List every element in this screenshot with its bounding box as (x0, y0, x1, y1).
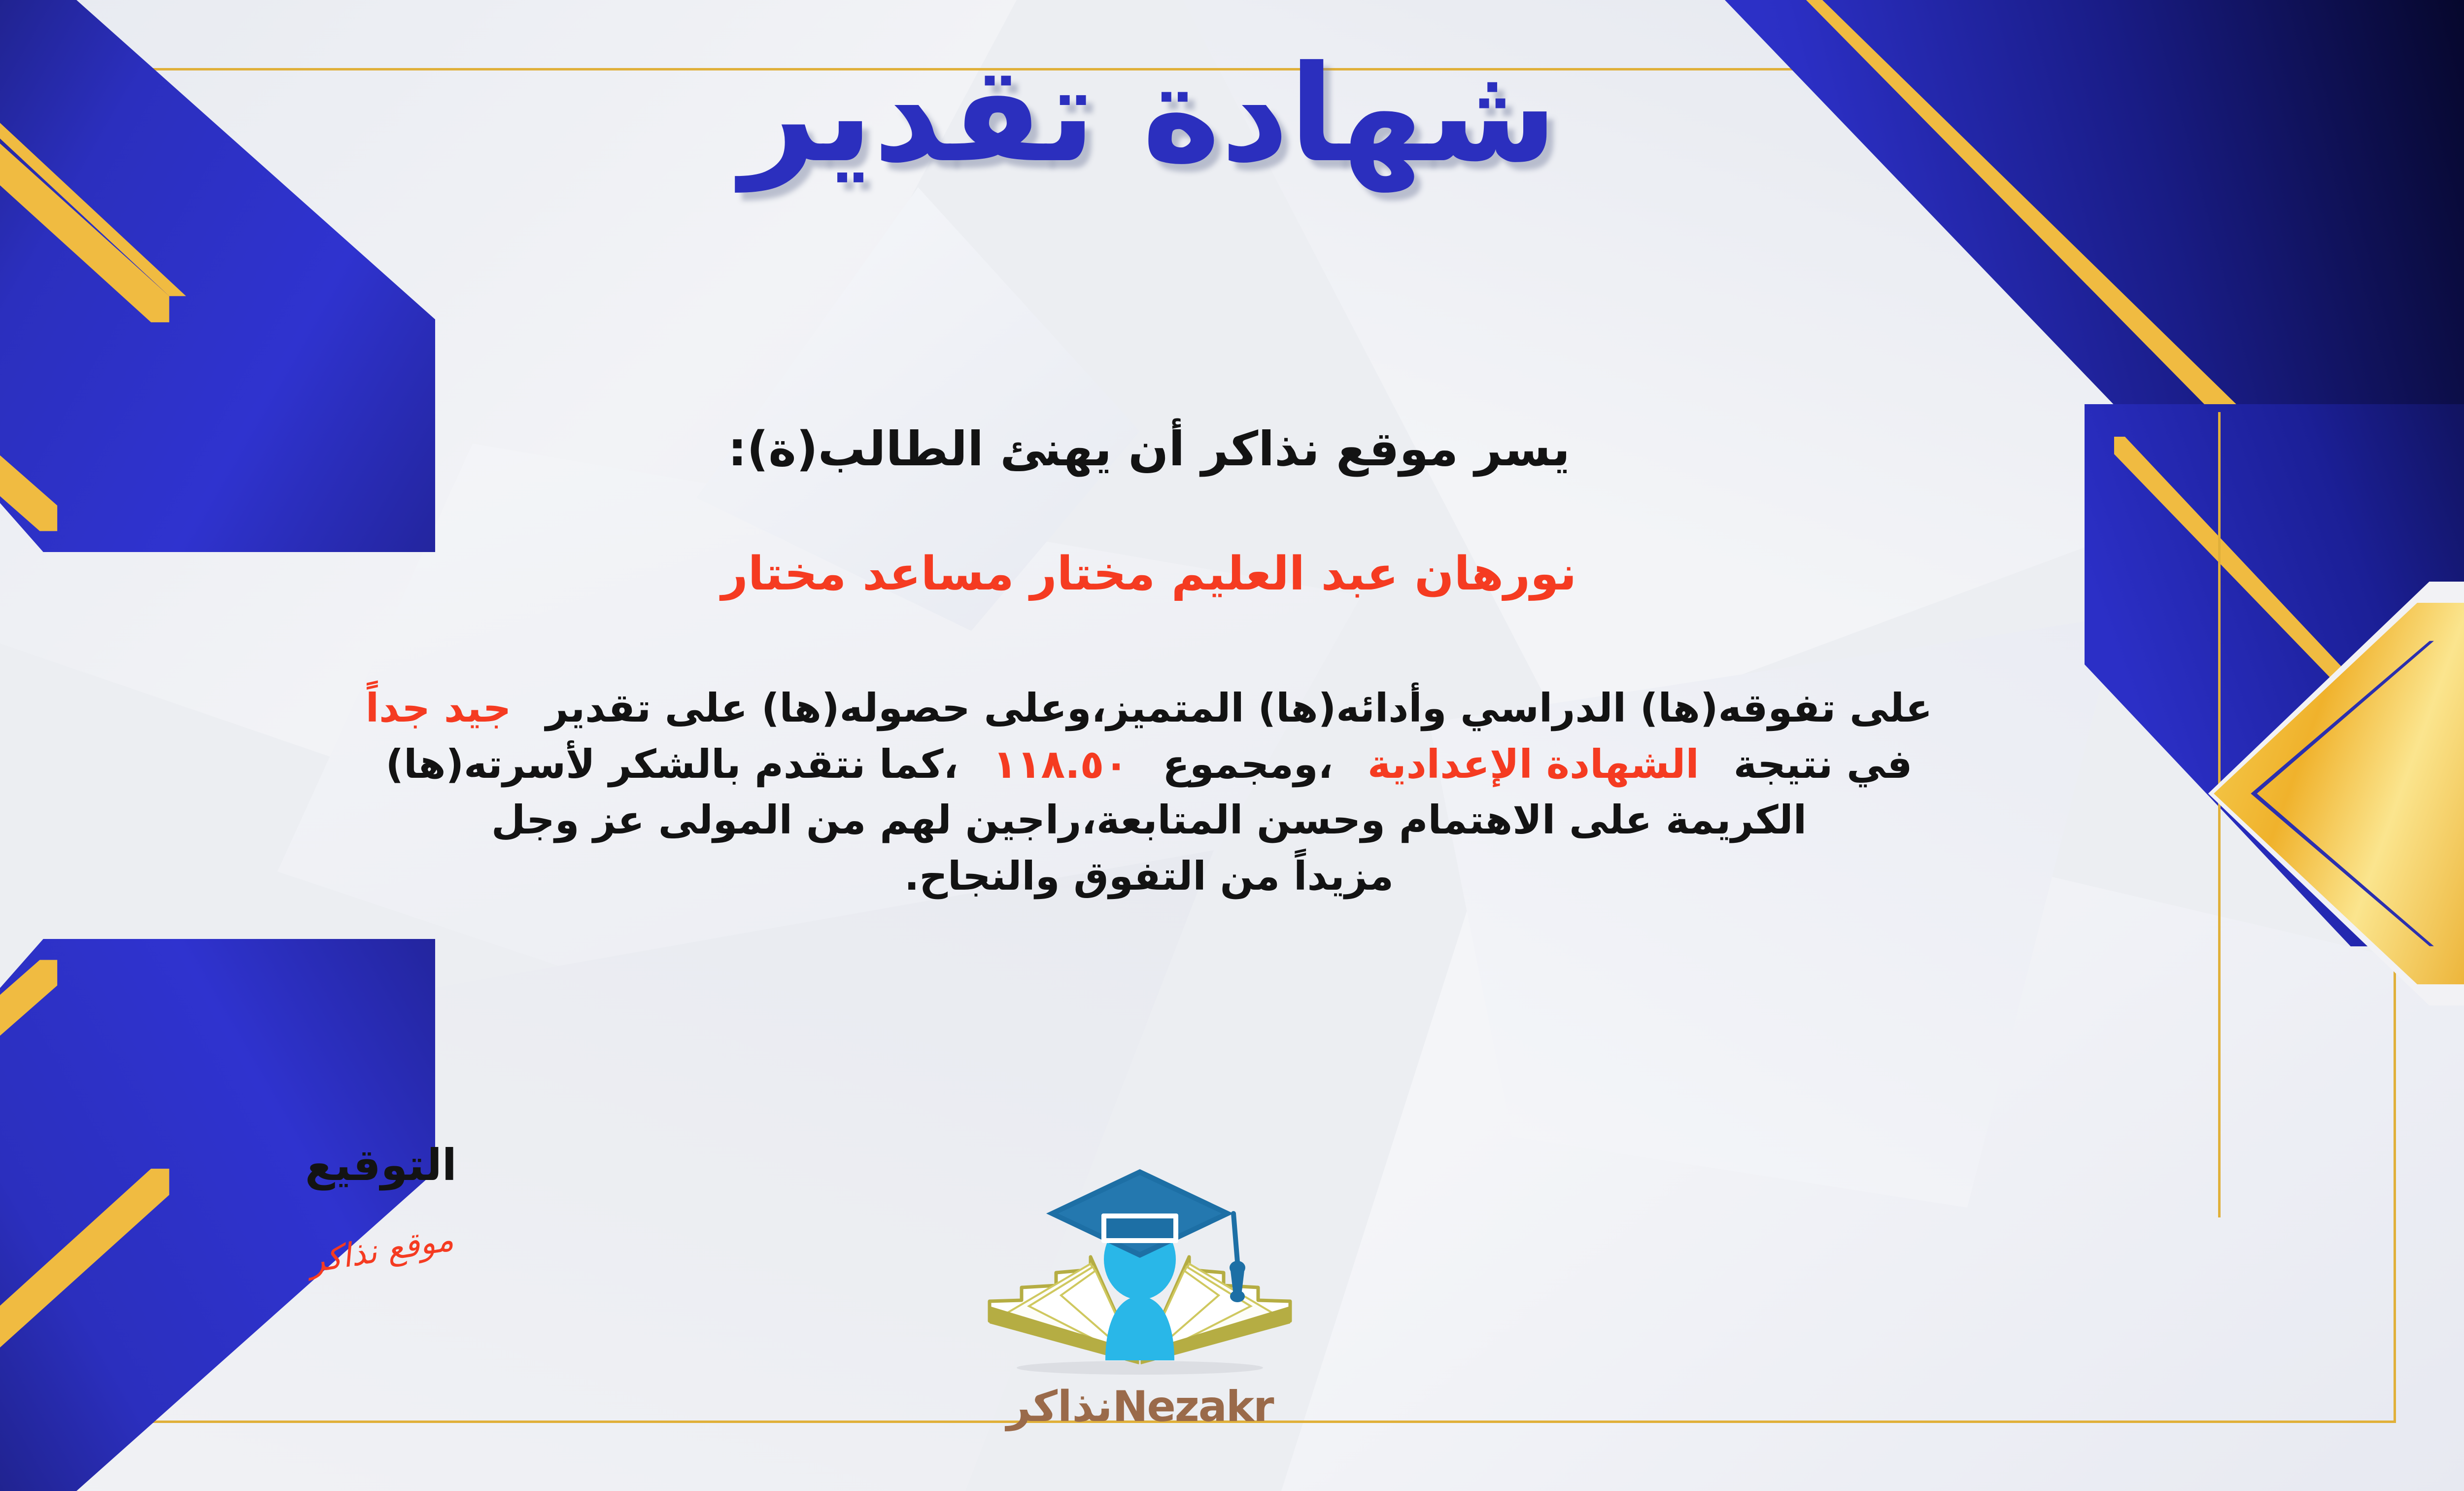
certificate-content: شهادة تقدير يسر موقع نذاكر أن يهنئ الطال… (0, 0, 2464, 1491)
body-line-3: الكريمة على الاهتمام وحسن المتابعة،راجين… (0, 792, 2336, 848)
logo-wordmark: Nezakrنذاكر (943, 1382, 1337, 1431)
grade-value: جيد جداً (366, 685, 512, 731)
signature-label: التوقيع (208, 1144, 553, 1187)
total-label: ،ومجموع (1163, 741, 1333, 787)
thanks-text: ،كما نتقدم بالشكر لأسرته(ها) (386, 741, 958, 787)
nezakr-logo: Nezakrنذاكر (943, 1129, 1337, 1434)
exam-name: الشهادة الإعدادية (1368, 741, 1699, 787)
body-line-1: على تفوقه(ها) الدراسي وأدائه(ها) المتميز… (0, 680, 2336, 736)
body-line-1-text: على تفوقه(ها) الدراسي وأدائه(ها) المتميز… (546, 685, 1932, 731)
body-line-2: في نتيجةالشهادة الإعدادية،ومجموع١١٨.٥٠،ك… (0, 736, 2336, 793)
total-score: ١١٨.٥٠ (993, 741, 1129, 787)
body-line-4: مزيداً من التفوق والنجاح. (0, 848, 2336, 904)
certificate-title: شهادة تقدير (0, 44, 2464, 184)
result-prefix: في نتيجة (1734, 741, 1913, 787)
signature-block: التوقيع موقع نذاكر (208, 1144, 553, 1269)
congratulation-intro-line: يسر موقع نذاكر أن يهنئ الطالب(ة): (0, 421, 2464, 477)
certificate-canvas: شهادة تقدير يسر موقع نذاكر أن يهنئ الطال… (0, 0, 2464, 1491)
signature-mark: موقع نذاكر (207, 1205, 554, 1296)
student-name: نورهان عبد العليم مختار مساعد مختار (0, 547, 2464, 601)
certificate-body: على تفوقه(ها) الدراسي وأدائه(ها) المتميز… (0, 680, 2336, 904)
